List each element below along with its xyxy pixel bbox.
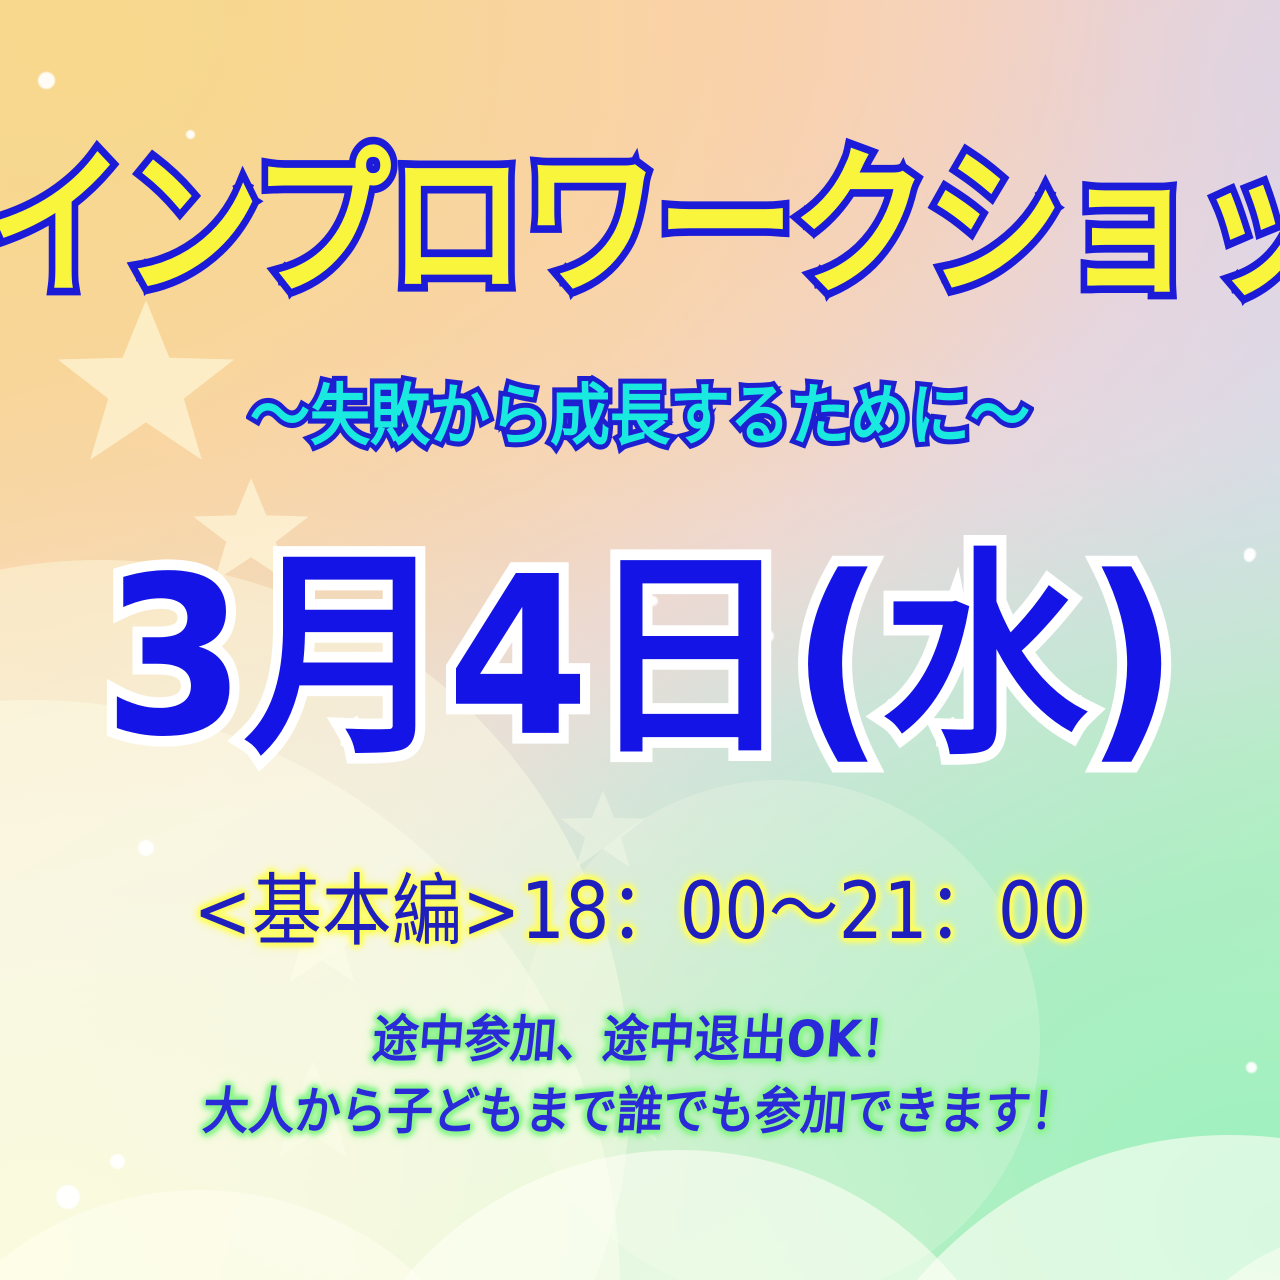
poster-canvas: インプロワークショップ 〜失敗から成長するために〜 3月4日(水) <基本編>1…: [0, 0, 1280, 1280]
sparkle-dot-icon: [56, 1185, 80, 1209]
background-hill-shape: [1150, 1230, 1280, 1280]
event-note-line-2: 大人から子どもまで誰でも参加できます！: [0, 1086, 1280, 1137]
sparkle-dot-icon: [110, 1154, 125, 1169]
poster-subtitle: 〜失敗から成長するために〜: [0, 382, 1280, 449]
background-hill-shape: [320, 1150, 1040, 1280]
star-icon: [560, 790, 646, 872]
sparkle-dot-icon: [138, 840, 154, 856]
event-note-line-1: 途中参加、途中退出OK！: [0, 1014, 1280, 1065]
event-date: 3月4日(水): [0, 549, 1280, 768]
background-hill-shape: [0, 1190, 520, 1280]
sparkle-dot-icon: [38, 72, 55, 89]
background-hill-shape: [0, 700, 620, 1280]
event-schedule: <基本編>18：00〜21：00: [0, 872, 1280, 950]
poster-title: インプロワークショップ: [0, 146, 1280, 306]
background-hill-shape: [820, 1135, 1280, 1280]
